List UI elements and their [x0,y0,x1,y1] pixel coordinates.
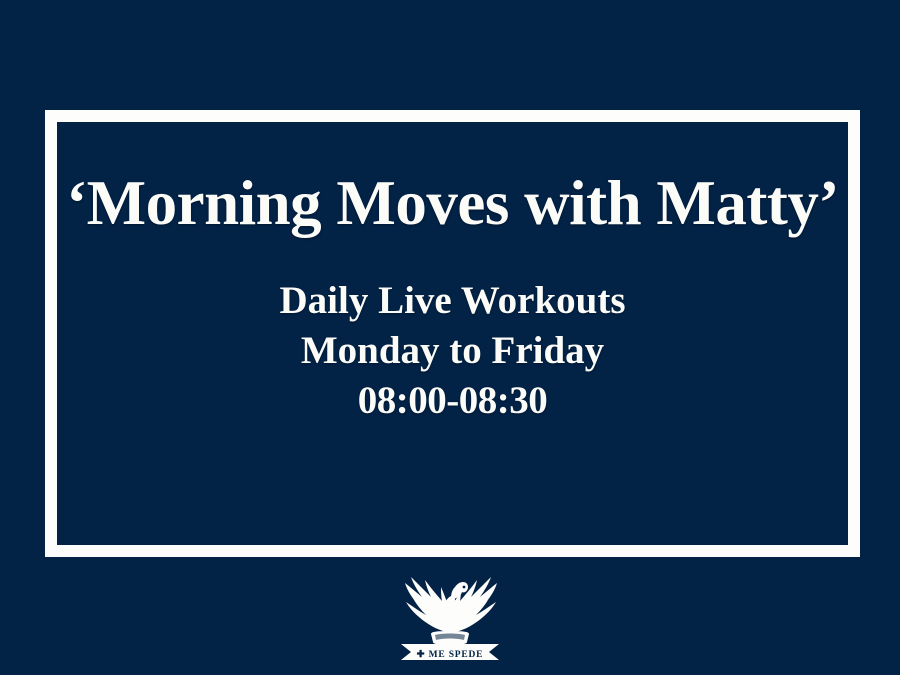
subtitle-line-time: 08:00-08:30 [280,376,626,426]
pelican-eye [463,586,466,589]
subtitle-line-activity: Daily Live Workouts [280,276,626,326]
decorative-border-frame: ‘Morning Moves with Matty’ Daily Live Wo… [45,110,860,557]
motto-text: ✚ ME SPEDE [417,649,484,660]
motto-mark: ✚ [417,649,426,660]
subtitle-line-days: Monday to Friday [280,326,626,376]
presentation-slide: ‘Morning Moves with Matty’ Daily Live Wo… [0,0,900,675]
subtitle-block: Daily Live Workouts Monday to Friday 08:… [280,276,626,426]
pelican-crest-logo: ✚ ME SPEDE [395,566,505,664]
nest-icon [431,631,469,645]
page-title: ‘Morning Moves with Matty’ [66,170,839,236]
frame-content: ‘Morning Moves with Matty’ Daily Live Wo… [57,122,848,545]
pelican-icon [405,577,497,638]
